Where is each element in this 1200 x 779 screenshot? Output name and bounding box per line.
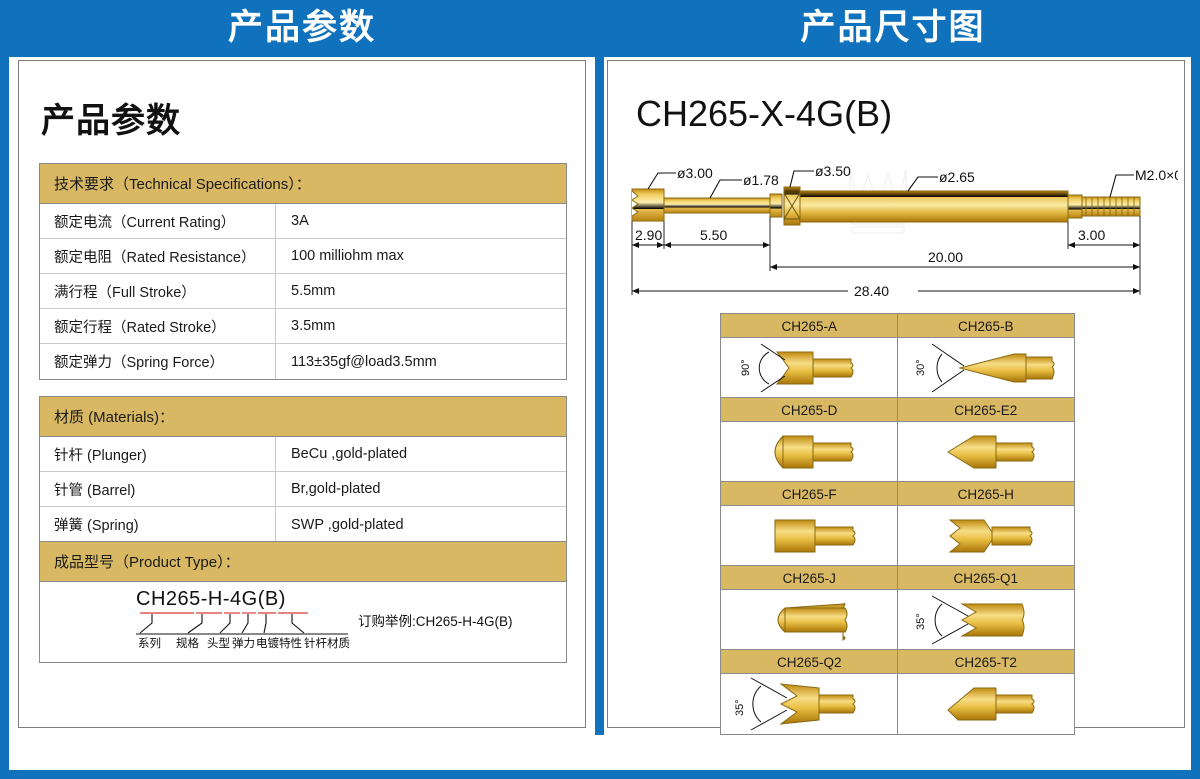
- diameter-labels: ø3.00 ø1.78 ø3.50 ø2.65 M2.0×0.3: [677, 163, 1178, 188]
- header-left: 产品参数: [9, 0, 595, 57]
- variant-header-row: CH265-D CH265-E2: [721, 398, 1074, 422]
- variant-header-row: CH265-F CH265-H: [721, 482, 1074, 506]
- page-title: 产品参数: [41, 93, 181, 142]
- right-card: CH265-X-4G(B): [607, 60, 1185, 728]
- table-row: 满行程（Full Stroke） 5.5mm: [40, 274, 566, 309]
- material-value: Br,gold-plated: [276, 472, 566, 506]
- dim-d2: ø1.78: [743, 172, 779, 188]
- probe-flange: [784, 187, 800, 225]
- spec-value: 100 milliohm max: [276, 239, 566, 273]
- variant-name: CH265-Q2: [720, 649, 899, 675]
- dim-len1: 2.90: [635, 227, 662, 243]
- variant-image-row: 90° 30°: [721, 338, 1074, 398]
- spec-value: 3.5mm: [276, 309, 566, 343]
- variant-name: CH265-J: [720, 565, 899, 591]
- variant-tip-F: [720, 505, 899, 567]
- probe-step: [1068, 195, 1082, 218]
- model-title: CH265-X-4G(B): [636, 93, 892, 135]
- dim-d3: ø3.50: [815, 163, 851, 179]
- dimension-drawing: ø3.00 ø1.78 ø3.50 ø2.65 M2.0×0.3: [618, 153, 1178, 313]
- variant-name: CH265-A: [720, 313, 899, 339]
- product-spec-page: 产品参数 产品尺寸图 产品参数 技术要求（Technical Specifica…: [0, 0, 1200, 779]
- nomenclature-code: CH265-H-4G(B): [136, 588, 336, 611]
- table-row: 针杆 (Plunger) BeCu ,gold-plated: [40, 437, 566, 472]
- legend-spring-force: 弹力: [232, 636, 255, 650]
- legend-series: 系列: [138, 636, 161, 650]
- variant-image-row: 35°: [721, 674, 1074, 734]
- variant-image-row: [721, 506, 1074, 566]
- legend-spec: 规格: [176, 636, 199, 650]
- variant-tip-E2: [897, 421, 1076, 483]
- material-value: BeCu ,gold-plated: [276, 437, 566, 471]
- legend-plating: 电镀特性: [256, 636, 302, 650]
- spec-key: 额定弹力（Spring Force）: [40, 344, 276, 379]
- variant-name: CH265-Q1: [897, 565, 1076, 591]
- variant-header-row: CH265-A CH265-B: [721, 314, 1074, 338]
- table-row: 额定电流（Current Rating） 3A: [40, 204, 566, 239]
- probe-barrel: [800, 191, 1068, 222]
- variant-name: CH265-T2: [897, 649, 1076, 675]
- dim-len3: 20.00: [928, 249, 963, 265]
- variant-name: CH265-F: [720, 481, 899, 507]
- variant-tip-T2: [897, 673, 1076, 735]
- variant-tip-D: [720, 421, 899, 483]
- table-row: 额定弹力（Spring Force） 113±35gf@load3.5mm: [40, 344, 566, 379]
- spec-value: 5.5mm: [276, 274, 566, 308]
- right-panel: CH265-X-4G(B): [604, 57, 1191, 735]
- dim-thread: M2.0×0.3: [1135, 167, 1178, 183]
- table-row: 额定电阻（Rated Resistance） 100 milliohm max: [40, 239, 566, 274]
- probe-collar: [770, 194, 782, 217]
- variants-table: CH265-A CH265-B: [720, 313, 1075, 735]
- probe-drawing-svg: ø3.00 ø1.78 ø3.50 ø2.65 M2.0×0.3: [618, 153, 1178, 313]
- nomenclature-leaders: 系列 规格 头型 弹力 电镀特性 针杆材质: [136, 611, 354, 657]
- spec-key: 额定电阻（Rated Resistance）: [40, 239, 276, 273]
- variant-image-row: [721, 422, 1074, 482]
- dim-len2: 5.50: [700, 227, 727, 243]
- table-row: 额定行程（Rated Stroke） 3.5mm: [40, 309, 566, 344]
- material-key: 弹簧 (Spring): [40, 507, 276, 542]
- variant-name: CH265-H: [897, 481, 1076, 507]
- product-type-body: CH265-H-4G(B): [40, 582, 566, 662]
- probe-shaft: [664, 198, 770, 213]
- materials-table: 材质 (Materials)： 针杆 (Plunger) BeCu ,gold-…: [39, 396, 567, 543]
- variant-angle: 35°: [734, 699, 746, 716]
- variant-tip-B: 30°: [897, 337, 1076, 399]
- dim-overall: 28.40: [854, 283, 889, 299]
- material-key: 针杆 (Plunger): [40, 437, 276, 471]
- variant-tip-J: [720, 589, 899, 651]
- panel-divider: [595, 0, 604, 735]
- variant-tip-A: 90°: [720, 337, 899, 399]
- nomenclature-diagram: CH265-H-4G(B): [136, 588, 336, 658]
- left-panel: 产品参数 技术要求（Technical Specifications）： 额定电…: [9, 57, 595, 735]
- variant-name: CH265-D: [720, 397, 899, 423]
- variant-tip-Q2: 35°: [720, 673, 899, 735]
- material-value: SWP ,gold-plated: [276, 507, 566, 542]
- probe-thread: [1082, 197, 1140, 216]
- product-type-band: 成品型号（Product Type）：: [40, 542, 566, 582]
- table-row: 弹簧 (Spring) SWP ,gold-plated: [40, 507, 566, 542]
- materials-band: 材质 (Materials)：: [40, 397, 566, 437]
- variant-header-row: CH265-Q2 CH265-T2: [721, 650, 1074, 674]
- spec-key: 额定行程（Rated Stroke）: [40, 309, 276, 343]
- dim-d1: ø3.00: [677, 165, 713, 181]
- variant-angle: 35°: [915, 613, 927, 630]
- variant-image-row: 35°: [721, 590, 1074, 650]
- variant-angle: 90°: [740, 359, 752, 376]
- variant-name: CH265-B: [897, 313, 1076, 339]
- left-card: 产品参数 技术要求（Technical Specifications）： 额定电…: [18, 60, 586, 728]
- header-left-title: 产品参数: [228, 11, 376, 46]
- table-row: 针管 (Barrel) Br,gold-plated: [40, 472, 566, 507]
- tech-spec-table: 技术要求（Technical Specifications）： 额定电流（Cur…: [39, 163, 567, 380]
- tech-spec-band: 技术要求（Technical Specifications）：: [40, 164, 566, 204]
- probe-plunger-head: [632, 189, 664, 221]
- header-right: 产品尺寸图: [595, 0, 1191, 57]
- legend-plunger-material: 针杆材质: [304, 636, 350, 650]
- variant-tip-H: [897, 505, 1076, 567]
- product-type-table: 成品型号（Product Type）： CH265-H-4G(B): [39, 541, 567, 663]
- dim-len4: 3.00: [1078, 227, 1105, 243]
- variant-tip-Q1: 35°: [897, 589, 1076, 651]
- spec-key: 满行程（Full Stroke）: [40, 274, 276, 308]
- variant-header-row: CH265-J CH265-Q1: [721, 566, 1074, 590]
- header-right-title: 产品尺寸图: [800, 11, 985, 46]
- dim-d4: ø2.65: [939, 169, 975, 185]
- order-example: 订购举例:CH265-H-4G(B): [358, 610, 513, 630]
- variant-name: CH265-E2: [897, 397, 1076, 423]
- spec-value: 3A: [276, 204, 566, 238]
- spec-key: 额定电流（Current Rating）: [40, 204, 276, 238]
- legend-head-type: 头型: [207, 636, 230, 650]
- material-key: 针管 (Barrel): [40, 472, 276, 506]
- variant-angle: 30°: [915, 359, 927, 376]
- spec-value: 113±35gf@load3.5mm: [276, 344, 566, 379]
